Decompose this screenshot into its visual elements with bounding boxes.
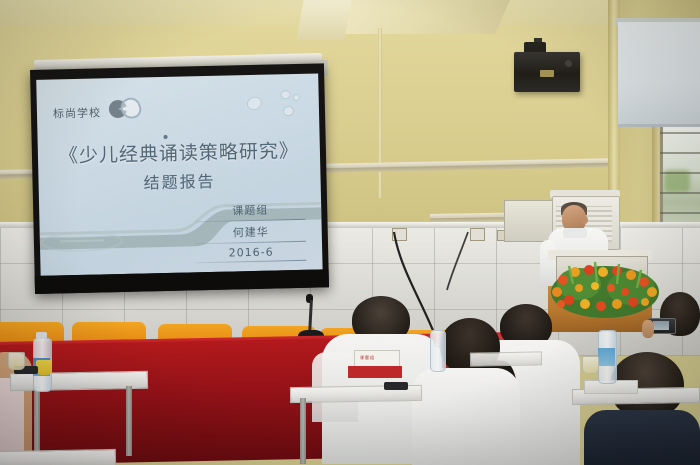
projector-brand-logo-icon bbox=[540, 70, 554, 77]
desk-leg bbox=[300, 398, 306, 464]
school-logo-icon bbox=[109, 98, 131, 120]
projection-screen: 标尚学校 《少儿经典诵读策略研究》 结题报告 课题组 bbox=[30, 63, 329, 294]
ceiling-beam-secondary bbox=[296, 0, 351, 40]
credit-line: 课题组 bbox=[195, 198, 305, 221]
credit-line: 何建华 bbox=[195, 220, 305, 243]
projector-lens-icon bbox=[565, 60, 572, 67]
name-card-text: 课题组 bbox=[360, 355, 375, 361]
bottle-cap bbox=[36, 332, 47, 339]
audience-torso bbox=[412, 368, 520, 465]
audience-torso bbox=[584, 410, 700, 465]
cup[interactable] bbox=[582, 356, 599, 374]
cup[interactable] bbox=[8, 352, 25, 370]
slide-credits: 课题组 何建华 2016-6 bbox=[195, 198, 306, 263]
bubble-decoration-icon bbox=[293, 94, 300, 101]
speaker-ear bbox=[582, 216, 588, 224]
name-card-base bbox=[348, 366, 402, 378]
bottle-label bbox=[598, 348, 615, 366]
roller-blind[interactable] bbox=[618, 22, 700, 127]
bubble-decoration-icon bbox=[281, 90, 291, 99]
wall-outlet[interactable] bbox=[470, 228, 485, 241]
slide-surface: 标尚学校 《少儿经典诵读策略研究》 结题报告 课题组 bbox=[36, 73, 322, 275]
slide-title: 《少儿经典诵读策略研究》 bbox=[38, 135, 321, 168]
speaker-collar bbox=[563, 228, 587, 238]
phone-screen bbox=[653, 321, 669, 330]
flower-arrangement bbox=[549, 258, 661, 320]
hand bbox=[642, 320, 654, 338]
slide-subtitle: 结题报告 bbox=[38, 165, 320, 195]
water-bottle[interactable] bbox=[430, 330, 446, 372]
ceiling-pipe bbox=[378, 28, 382, 198]
desk bbox=[0, 449, 116, 465]
photo-scene: 标尚学校 《少儿经典诵读策略研究》 结题报告 课题组 bbox=[0, 0, 700, 465]
cup[interactable] bbox=[36, 360, 52, 375]
bubble-decoration-icon bbox=[245, 95, 264, 113]
desk-leg bbox=[126, 386, 132, 456]
bubble-decoration-icon bbox=[283, 106, 294, 116]
mobile-phone[interactable] bbox=[384, 382, 408, 390]
slide-school-logo-text: 标尚学校 bbox=[53, 104, 101, 121]
desk bbox=[470, 351, 542, 366]
